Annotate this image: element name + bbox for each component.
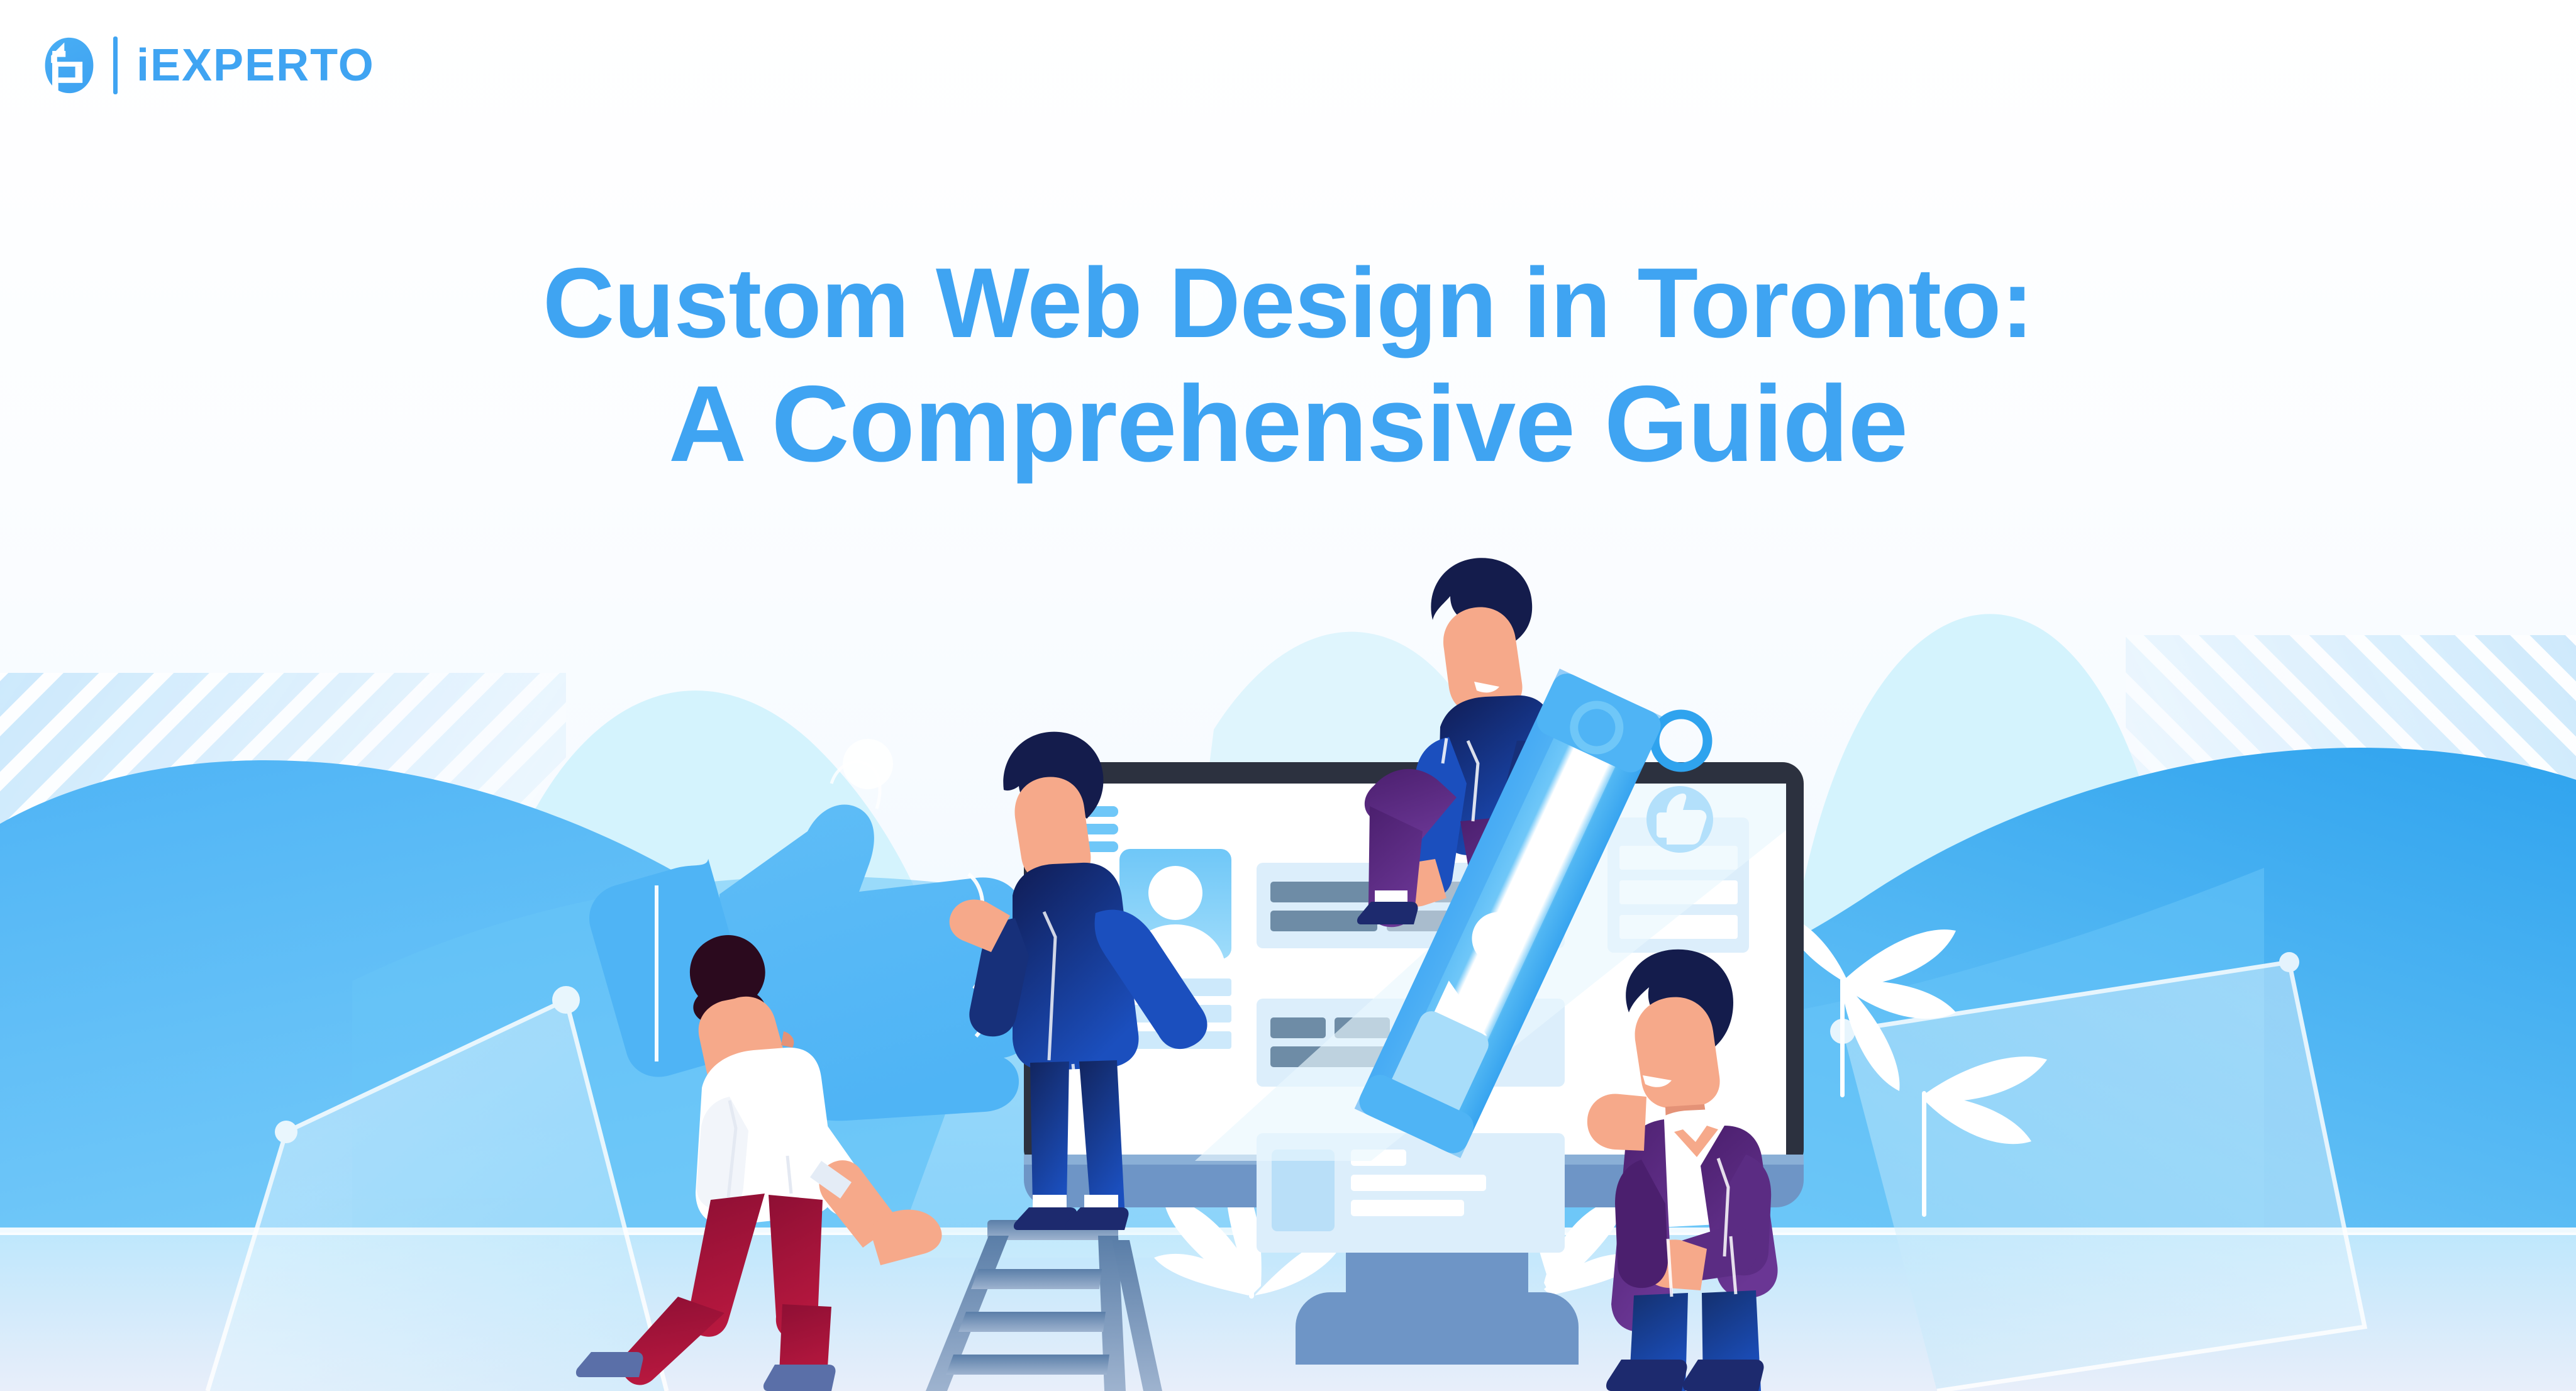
figure-group-right: [0, 0, 2576, 1391]
iexperto-logo-mark-icon: [39, 35, 99, 96]
pen-man-shoe-right: [1683, 1360, 1764, 1391]
page-title-line-1: Custom Web Design in Toronto:: [0, 246, 2576, 361]
pen-man-shoe-left: [1606, 1360, 1687, 1391]
brand-logo[interactable]: iEXPERTO: [39, 35, 375, 96]
poster-canvas: iEXPERTO Custom Web Design in Toronto: A…: [0, 0, 2576, 1391]
brand-wordmark: iEXPERTO: [136, 43, 375, 88]
figure-man-with-pen: [1587, 950, 1778, 1391]
pen-man-hand-left: [1587, 1094, 1646, 1151]
page-title-line-2: A Comprehensive Guide: [0, 362, 2576, 487]
brand-divider: [113, 36, 118, 94]
page-title: Custom Web Design in Toronto: A Comprehe…: [0, 246, 2576, 487]
top-man-shoe-left: [1357, 902, 1418, 924]
